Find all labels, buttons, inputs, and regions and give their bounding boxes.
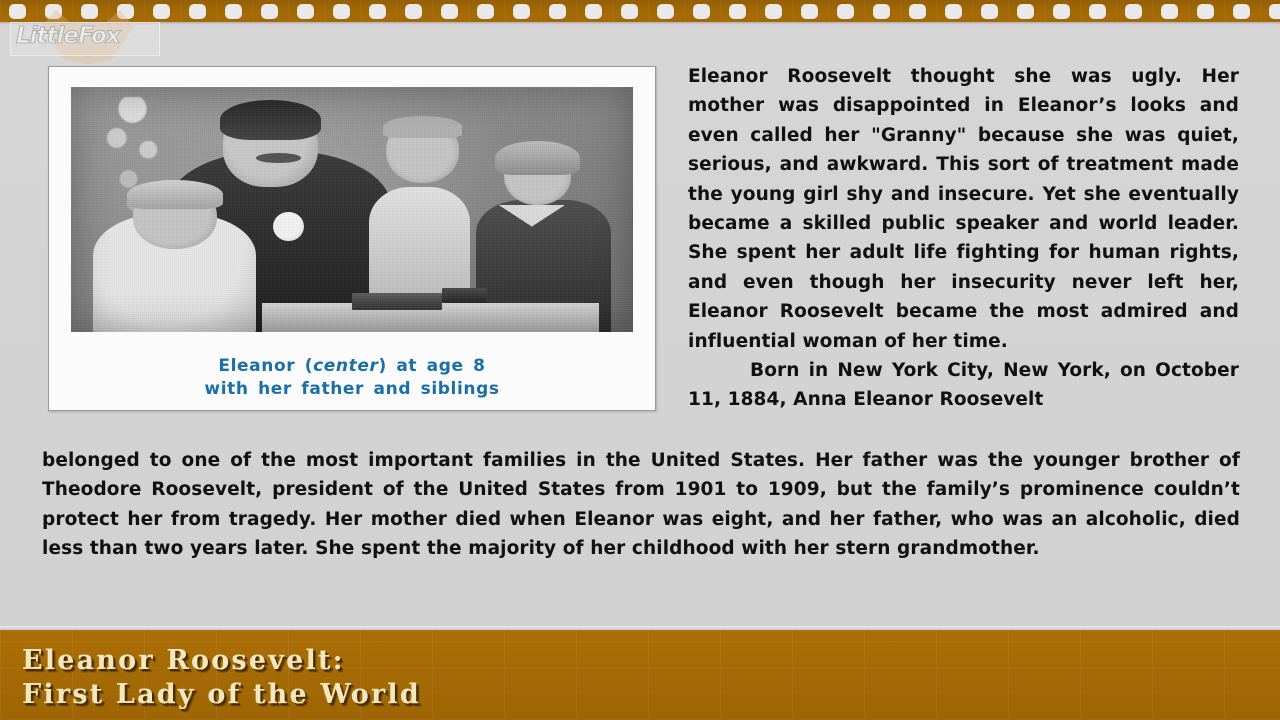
film-sprocket-hole bbox=[297, 4, 314, 19]
body-column-right: Eleanor Roosevelt thought she was ugly. … bbox=[688, 62, 1239, 415]
film-sprocket-hole bbox=[801, 4, 818, 19]
girl-bangs-shape bbox=[383, 116, 462, 138]
film-sprocket-hole bbox=[1233, 4, 1250, 19]
film-sprocket-hole bbox=[1161, 4, 1178, 19]
little-fox-logo: LittleFox bbox=[8, 14, 168, 62]
photo-caption: Eleanor (center) at age 8 with her fathe… bbox=[71, 355, 633, 401]
film-sprocket-hole bbox=[1053, 4, 1070, 19]
film-sprocket-hole bbox=[441, 4, 458, 19]
film-sprocket-hole bbox=[729, 4, 746, 19]
film-sprocket-hole bbox=[693, 4, 710, 19]
sibling-hair-shape bbox=[495, 141, 579, 175]
film-sprocket-hole bbox=[621, 4, 638, 19]
baby-hair-shape bbox=[127, 180, 223, 209]
film-sprocket-hole bbox=[261, 4, 278, 19]
film-sprocket-hole bbox=[1089, 4, 1106, 19]
film-sprocket-hole bbox=[873, 4, 890, 19]
paragraph-two-rest: belonged to one of the most important fa… bbox=[42, 446, 1240, 564]
film-sprocket-hole bbox=[1125, 4, 1142, 19]
film-sprocket-hole bbox=[333, 4, 350, 19]
father-hair-shape bbox=[220, 100, 321, 139]
paragraph-one: Eleanor Roosevelt thought she was ugly. … bbox=[688, 62, 1239, 356]
film-sprocket-hole bbox=[981, 4, 998, 19]
caption-line-1-before: Eleanor ( bbox=[218, 356, 313, 376]
film-sprocket-hole bbox=[549, 4, 566, 19]
logo-text: LittleFox bbox=[16, 23, 120, 49]
book-shape-secondary bbox=[442, 288, 487, 303]
title-line-1: Eleanor Roosevelt: bbox=[22, 644, 421, 678]
caption-line-1-italic: center bbox=[313, 356, 378, 376]
father-mustache-shape bbox=[256, 153, 301, 163]
photo-frame: Eleanor (center) at age 8 with her fathe… bbox=[48, 66, 656, 411]
paragraph-two-lead: Born in New York City, New York, on Octo… bbox=[688, 356, 1239, 415]
film-sprocket-hole bbox=[837, 4, 854, 19]
film-strip-shadow bbox=[0, 22, 1280, 25]
film-sprocket-hole bbox=[1197, 4, 1214, 19]
film-sprocket-hole bbox=[405, 4, 422, 19]
film-sprocket-hole bbox=[1269, 4, 1280, 19]
film-sprocket-hole bbox=[945, 4, 962, 19]
film-sprocket-hole bbox=[225, 4, 242, 19]
film-sprocket-hole bbox=[909, 4, 926, 19]
film-sprocket-hole bbox=[369, 4, 386, 19]
title-line-2: First Lady of the World bbox=[22, 678, 421, 712]
film-sprocket-hole bbox=[585, 4, 602, 19]
title-block: Eleanor Roosevelt: First Lady of the Wor… bbox=[22, 644, 421, 712]
book-shape bbox=[352, 293, 442, 310]
film-sprocket-hole bbox=[477, 4, 494, 19]
caption-line-2: with her father and siblings bbox=[204, 379, 499, 399]
film-sprocket-hole bbox=[765, 4, 782, 19]
film-strip-top bbox=[0, 0, 1280, 22]
film-sprocket-hole bbox=[513, 4, 530, 19]
title-bar: Eleanor Roosevelt: First Lady of the Wor… bbox=[0, 630, 1280, 720]
slide-stage: LittleFox bbox=[0, 0, 1280, 720]
film-sprocket-hole bbox=[1017, 4, 1034, 19]
body-column-bottom: belonged to one of the most important fa… bbox=[42, 446, 1240, 564]
film-sprocket-hole bbox=[657, 4, 674, 19]
family-photograph bbox=[71, 87, 633, 332]
film-sprocket-hole bbox=[189, 4, 206, 19]
caption-line-1-after: ) at age 8 bbox=[378, 356, 485, 376]
